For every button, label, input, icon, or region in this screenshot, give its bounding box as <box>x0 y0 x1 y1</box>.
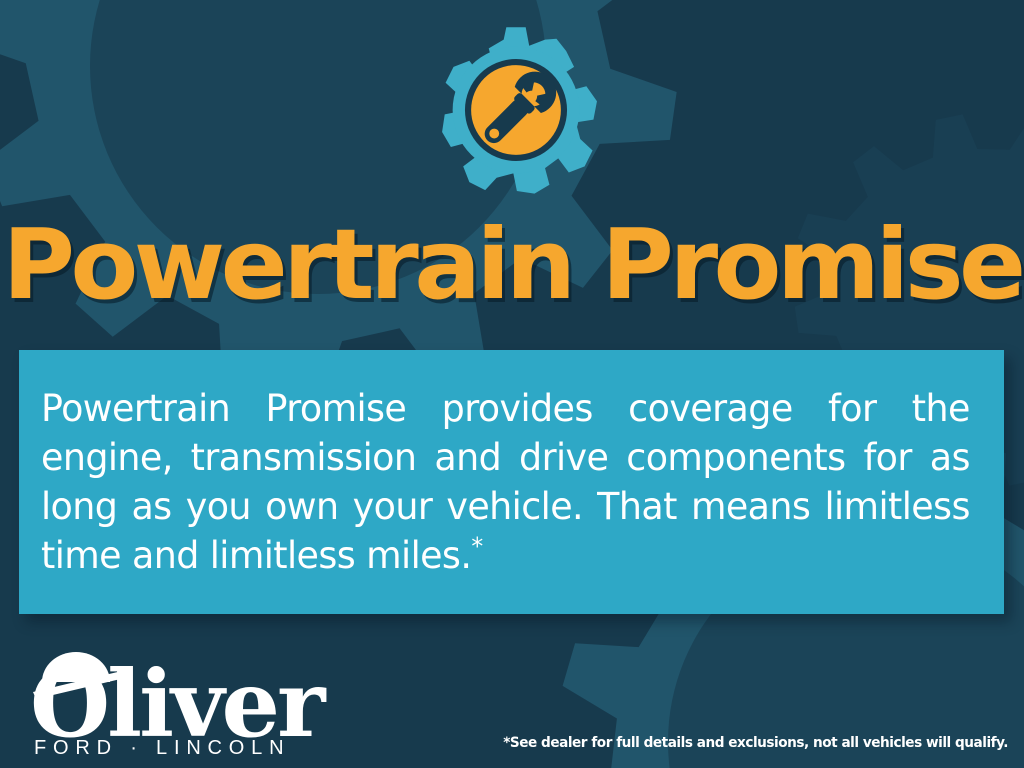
page-title: Powertrain Promise <box>0 216 1024 313</box>
dealer-logo: Oliver FORD · LINCOLN <box>30 640 330 758</box>
gear-wrench-icon <box>428 22 604 198</box>
disclaimer-text: *See dealer for full details and exclusi… <box>503 735 1008 751</box>
description-panel: Powertrain Promise provides coverage for… <box>19 350 1004 614</box>
logo-subtitle: FORD · LINCOLN <box>34 737 290 758</box>
description-body: Powertrain Promise provides coverage for… <box>41 387 970 577</box>
description-text: Powertrain Promise provides coverage for… <box>41 384 970 580</box>
poster-canvas: Powertrain Promise Powertrain Promise pr… <box>0 0 1024 768</box>
description-asterisk: * <box>471 533 482 561</box>
